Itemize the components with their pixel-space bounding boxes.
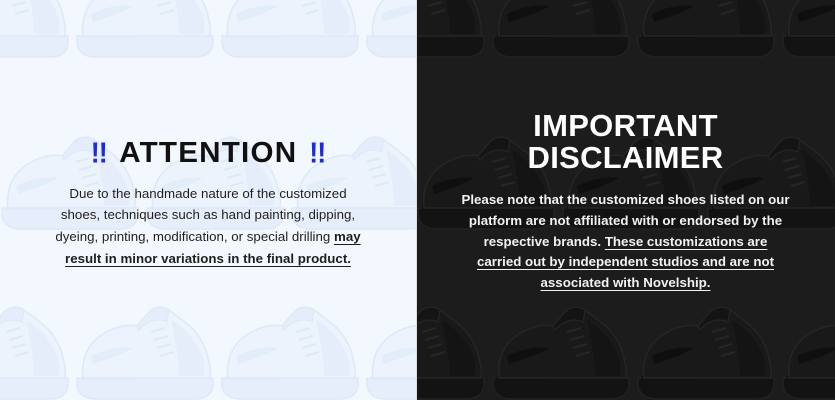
attention-body: Due to the handmade nature of the custom… xyxy=(48,183,368,269)
attention-body-plain: Due to the handmade nature of the custom… xyxy=(55,186,355,244)
attention-heading: !! ATTENTION !! xyxy=(22,139,394,168)
disclaimer-body: Please note that the customized shoes li… xyxy=(461,190,791,294)
disclaimer-panel: IMPORTANT DISCLAIMER Please note that th… xyxy=(416,0,835,400)
double-exclamation-left-icon: !! xyxy=(91,139,107,167)
disclaimer-banner: !! ATTENTION !! Due to the handmade natu… xyxy=(0,0,835,400)
disclaimer-heading-line1: IMPORTANT xyxy=(533,108,718,143)
attention-panel: !! ATTENTION !! Due to the handmade natu… xyxy=(0,0,416,400)
double-exclamation-right-icon: !! xyxy=(309,139,325,167)
disclaimer-heading-line2: DISCLAIMER xyxy=(438,142,813,174)
attention-content: !! ATTENTION !! Due to the handmade natu… xyxy=(0,139,416,269)
disclaimer-heading: IMPORTANT DISCLAIMER xyxy=(438,110,813,174)
disclaimer-content: IMPORTANT DISCLAIMER Please note that th… xyxy=(416,110,835,294)
attention-title: ATTENTION xyxy=(119,139,297,168)
panel-divider xyxy=(416,0,417,400)
